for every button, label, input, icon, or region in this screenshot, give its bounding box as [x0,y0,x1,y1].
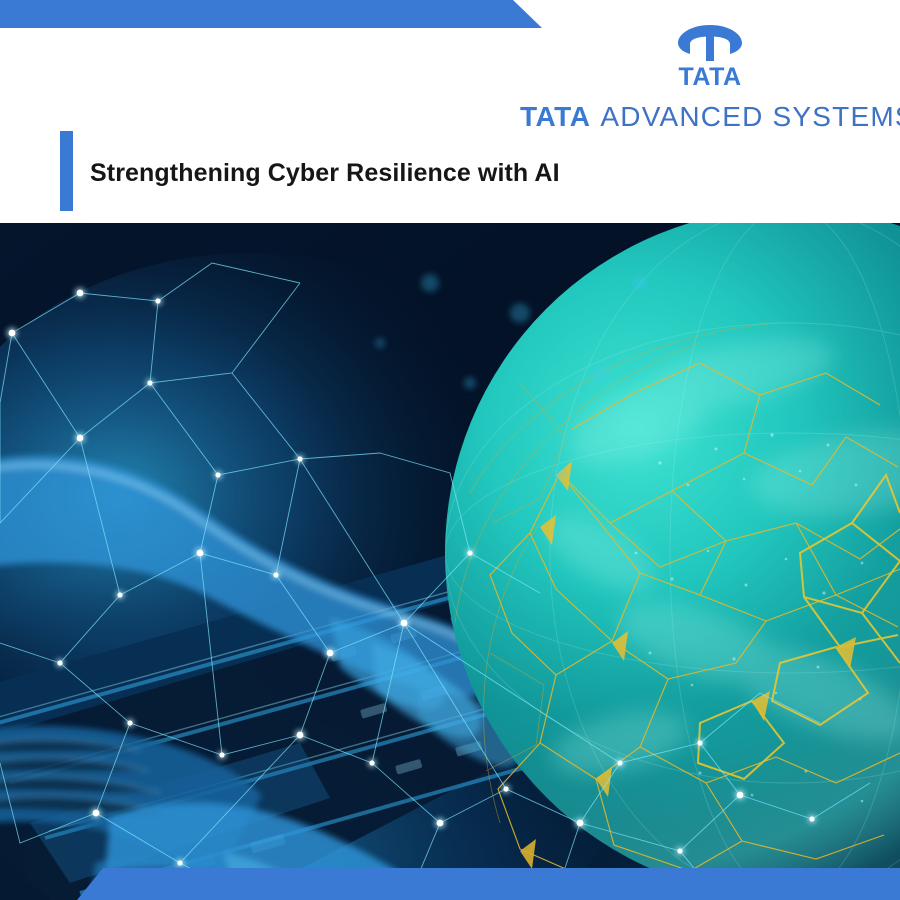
banner-page: TATA TATA ADVANCED SYSTEMS Strengthening… [0,0,900,900]
tata-wordmark: TATA [655,62,765,92]
hero-image [0,223,900,900]
hero-illustration [0,223,900,900]
tata-dome-emblem [677,24,743,62]
company-name-suffix: ADVANCED SYSTEMS [600,101,900,133]
title-accent-bar [60,131,73,211]
company-name-prefix: TATA [520,101,590,133]
header: TATA TATA ADVANCED SYSTEMS Strengthening… [0,0,900,223]
tata-logo: TATA [655,24,765,92]
page-title: Strengthening Cyber Resilience with AI [90,156,560,196]
company-lockup: TATA ADVANCED SYSTEMS [520,100,880,134]
top-accent-band [0,0,542,28]
bottom-accent-band [0,868,900,900]
